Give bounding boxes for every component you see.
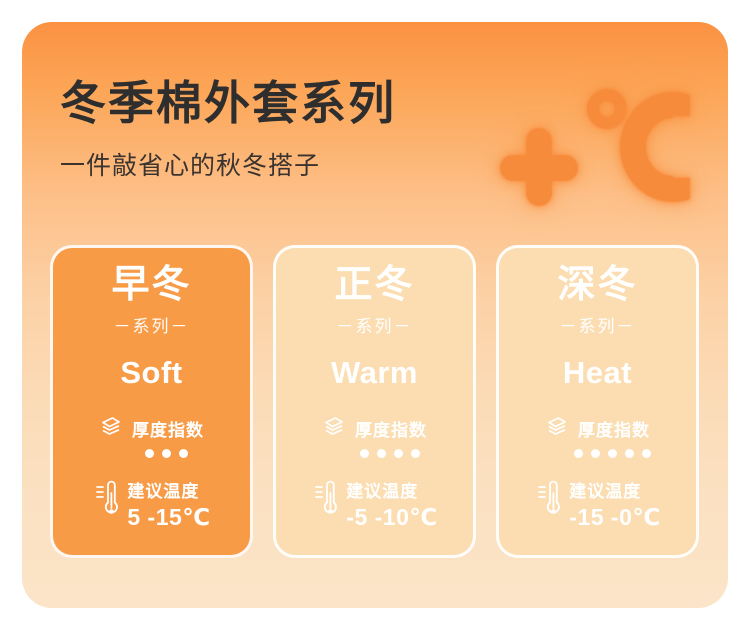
series-card-warm[interactable]: 正冬 －系列－ Warm 厚度指数	[273, 245, 476, 558]
thickness-dot	[360, 449, 369, 458]
thickness-dot	[394, 449, 403, 458]
card-cn-name: 早冬	[111, 262, 191, 310]
card-cn-name: 深冬	[557, 262, 637, 310]
thickness-dots-soft	[145, 449, 188, 458]
thickness-dots-warm	[360, 449, 420, 458]
degree-celsius-decoration	[492, 70, 722, 220]
temperature-label: 建议温度	[346, 477, 437, 502]
card-en-name: Soft	[120, 355, 182, 391]
plus-icon	[500, 128, 578, 206]
page-title: 冬季棉外套系列	[60, 77, 500, 130]
thickness-label: 厚度指数	[132, 416, 204, 441]
layers-icon	[322, 415, 346, 442]
thermometer-icon	[534, 480, 560, 527]
card-series-label: －系列－	[560, 312, 636, 337]
celsius-c-icon	[620, 92, 726, 202]
card-en-name: Warm	[331, 355, 418, 391]
banner-panel: 冬季棉外套系列 一件敲省心的秋冬搭子 早冬 －系列－ Soft	[22, 22, 728, 608]
card-spec-thickness: 厚度指数	[499, 415, 696, 458]
temperature-value: 5 -15℃	[127, 504, 210, 531]
series-card-heat[interactable]: 深冬 －系列－ Heat 厚度指数	[496, 245, 699, 558]
page-subtitle: 一件敲省心的秋冬搭子	[60, 146, 500, 182]
card-cn-name: 正冬	[334, 262, 414, 310]
thickness-label: 厚度指数	[578, 416, 650, 441]
thickness-dot	[591, 449, 600, 458]
temperature-label: 建议温度	[569, 477, 660, 502]
thickness-dot	[411, 449, 420, 458]
layers-icon	[99, 415, 123, 442]
thickness-dot	[642, 449, 651, 458]
card-series-label: －系列－	[114, 312, 190, 337]
thickness-dot	[145, 449, 154, 458]
temperature-value: -5 -10℃	[346, 504, 437, 531]
banner-header: 冬季棉外套系列 一件敲省心的秋冬搭子	[60, 77, 500, 182]
thickness-dots-heat	[574, 449, 651, 458]
card-spec-thickness: 厚度指数	[53, 415, 250, 458]
series-card-list: 早冬 －系列－ Soft 厚度指数	[50, 245, 700, 558]
card-spec-temperature: 建议温度 5 -15℃	[92, 477, 210, 531]
series-card-soft[interactable]: 早冬 －系列－ Soft 厚度指数	[50, 245, 253, 558]
thickness-dot	[377, 449, 386, 458]
thickness-dot	[179, 449, 188, 458]
thickness-dot	[625, 449, 634, 458]
thickness-dot	[608, 449, 617, 458]
thickness-label: 厚度指数	[355, 416, 427, 441]
thermometer-icon	[311, 480, 337, 527]
card-spec-temperature: 建议温度 -15 -0℃	[534, 477, 660, 531]
thickness-dot	[574, 449, 583, 458]
card-en-name: Heat	[563, 355, 632, 391]
thermometer-icon	[92, 480, 118, 527]
temperature-value: -15 -0℃	[569, 504, 660, 531]
card-spec-thickness: 厚度指数	[276, 415, 473, 458]
layers-icon	[545, 415, 569, 442]
promo-banner: 冬季棉外套系列 一件敲省心的秋冬搭子 早冬 －系列－ Soft	[0, 0, 750, 633]
thickness-dot	[162, 449, 171, 458]
card-spec-temperature: 建议温度 -5 -10℃	[311, 477, 437, 531]
temperature-label: 建议温度	[127, 477, 210, 502]
card-series-label: －系列－	[337, 312, 413, 337]
